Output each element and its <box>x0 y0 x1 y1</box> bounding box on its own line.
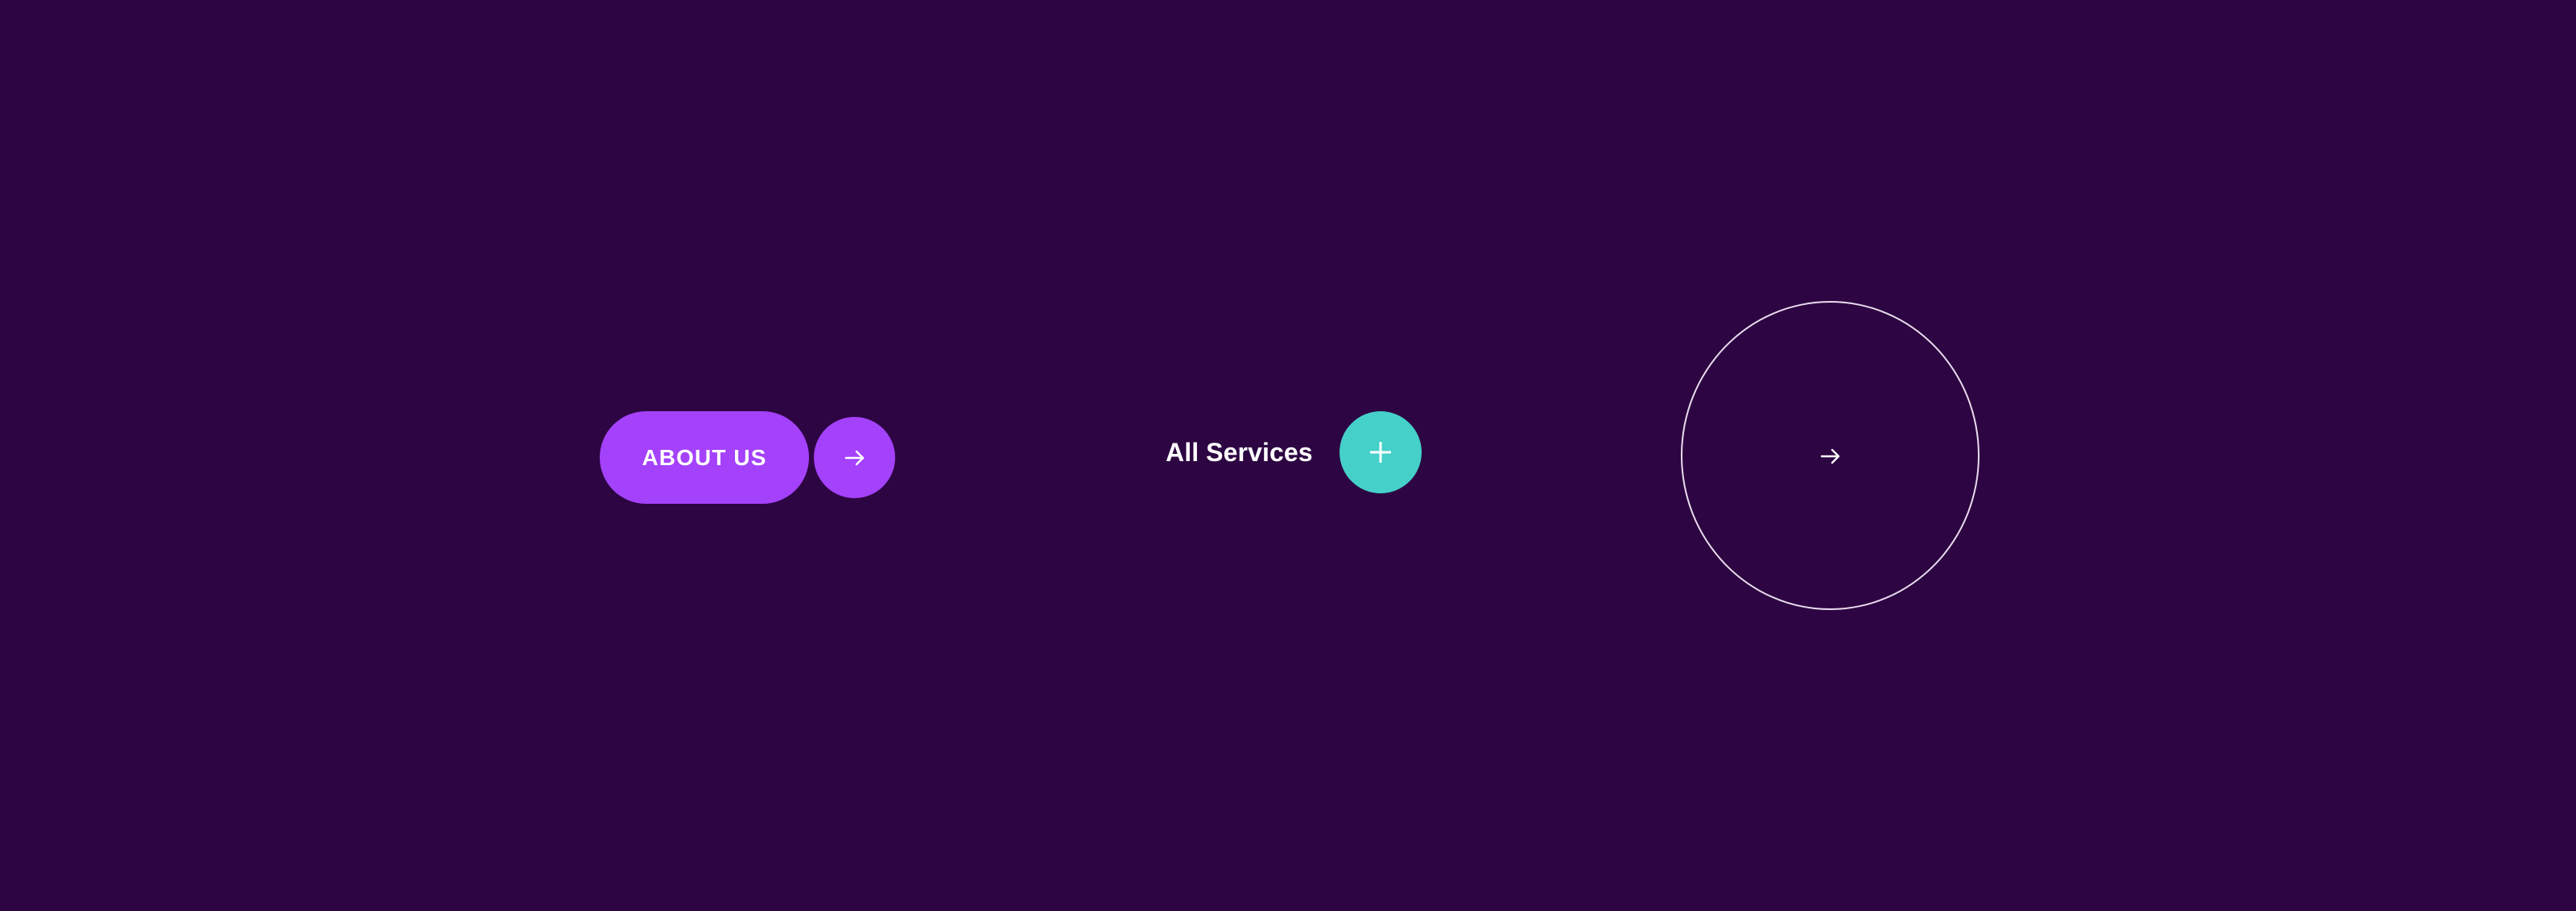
all-services-group[interactable]: All Services <box>1166 411 1422 493</box>
about-us-arrow-button[interactable] <box>814 417 895 498</box>
page-canvas: ABOUT US All Services <box>0 0 2576 911</box>
plus-icon <box>1366 438 1395 467</box>
arrow-right-icon <box>1817 441 1844 470</box>
about-us-button-group[interactable]: ABOUT US <box>600 411 895 504</box>
explore-circle-button[interactable] <box>1681 301 1979 610</box>
about-us-label: ABOUT US <box>642 447 766 469</box>
arrow-right-icon <box>841 444 869 472</box>
all-services-label: All Services <box>1166 439 1313 465</box>
all-services-plus-button[interactable] <box>1340 411 1422 493</box>
about-us-button[interactable]: ABOUT US <box>600 411 809 504</box>
